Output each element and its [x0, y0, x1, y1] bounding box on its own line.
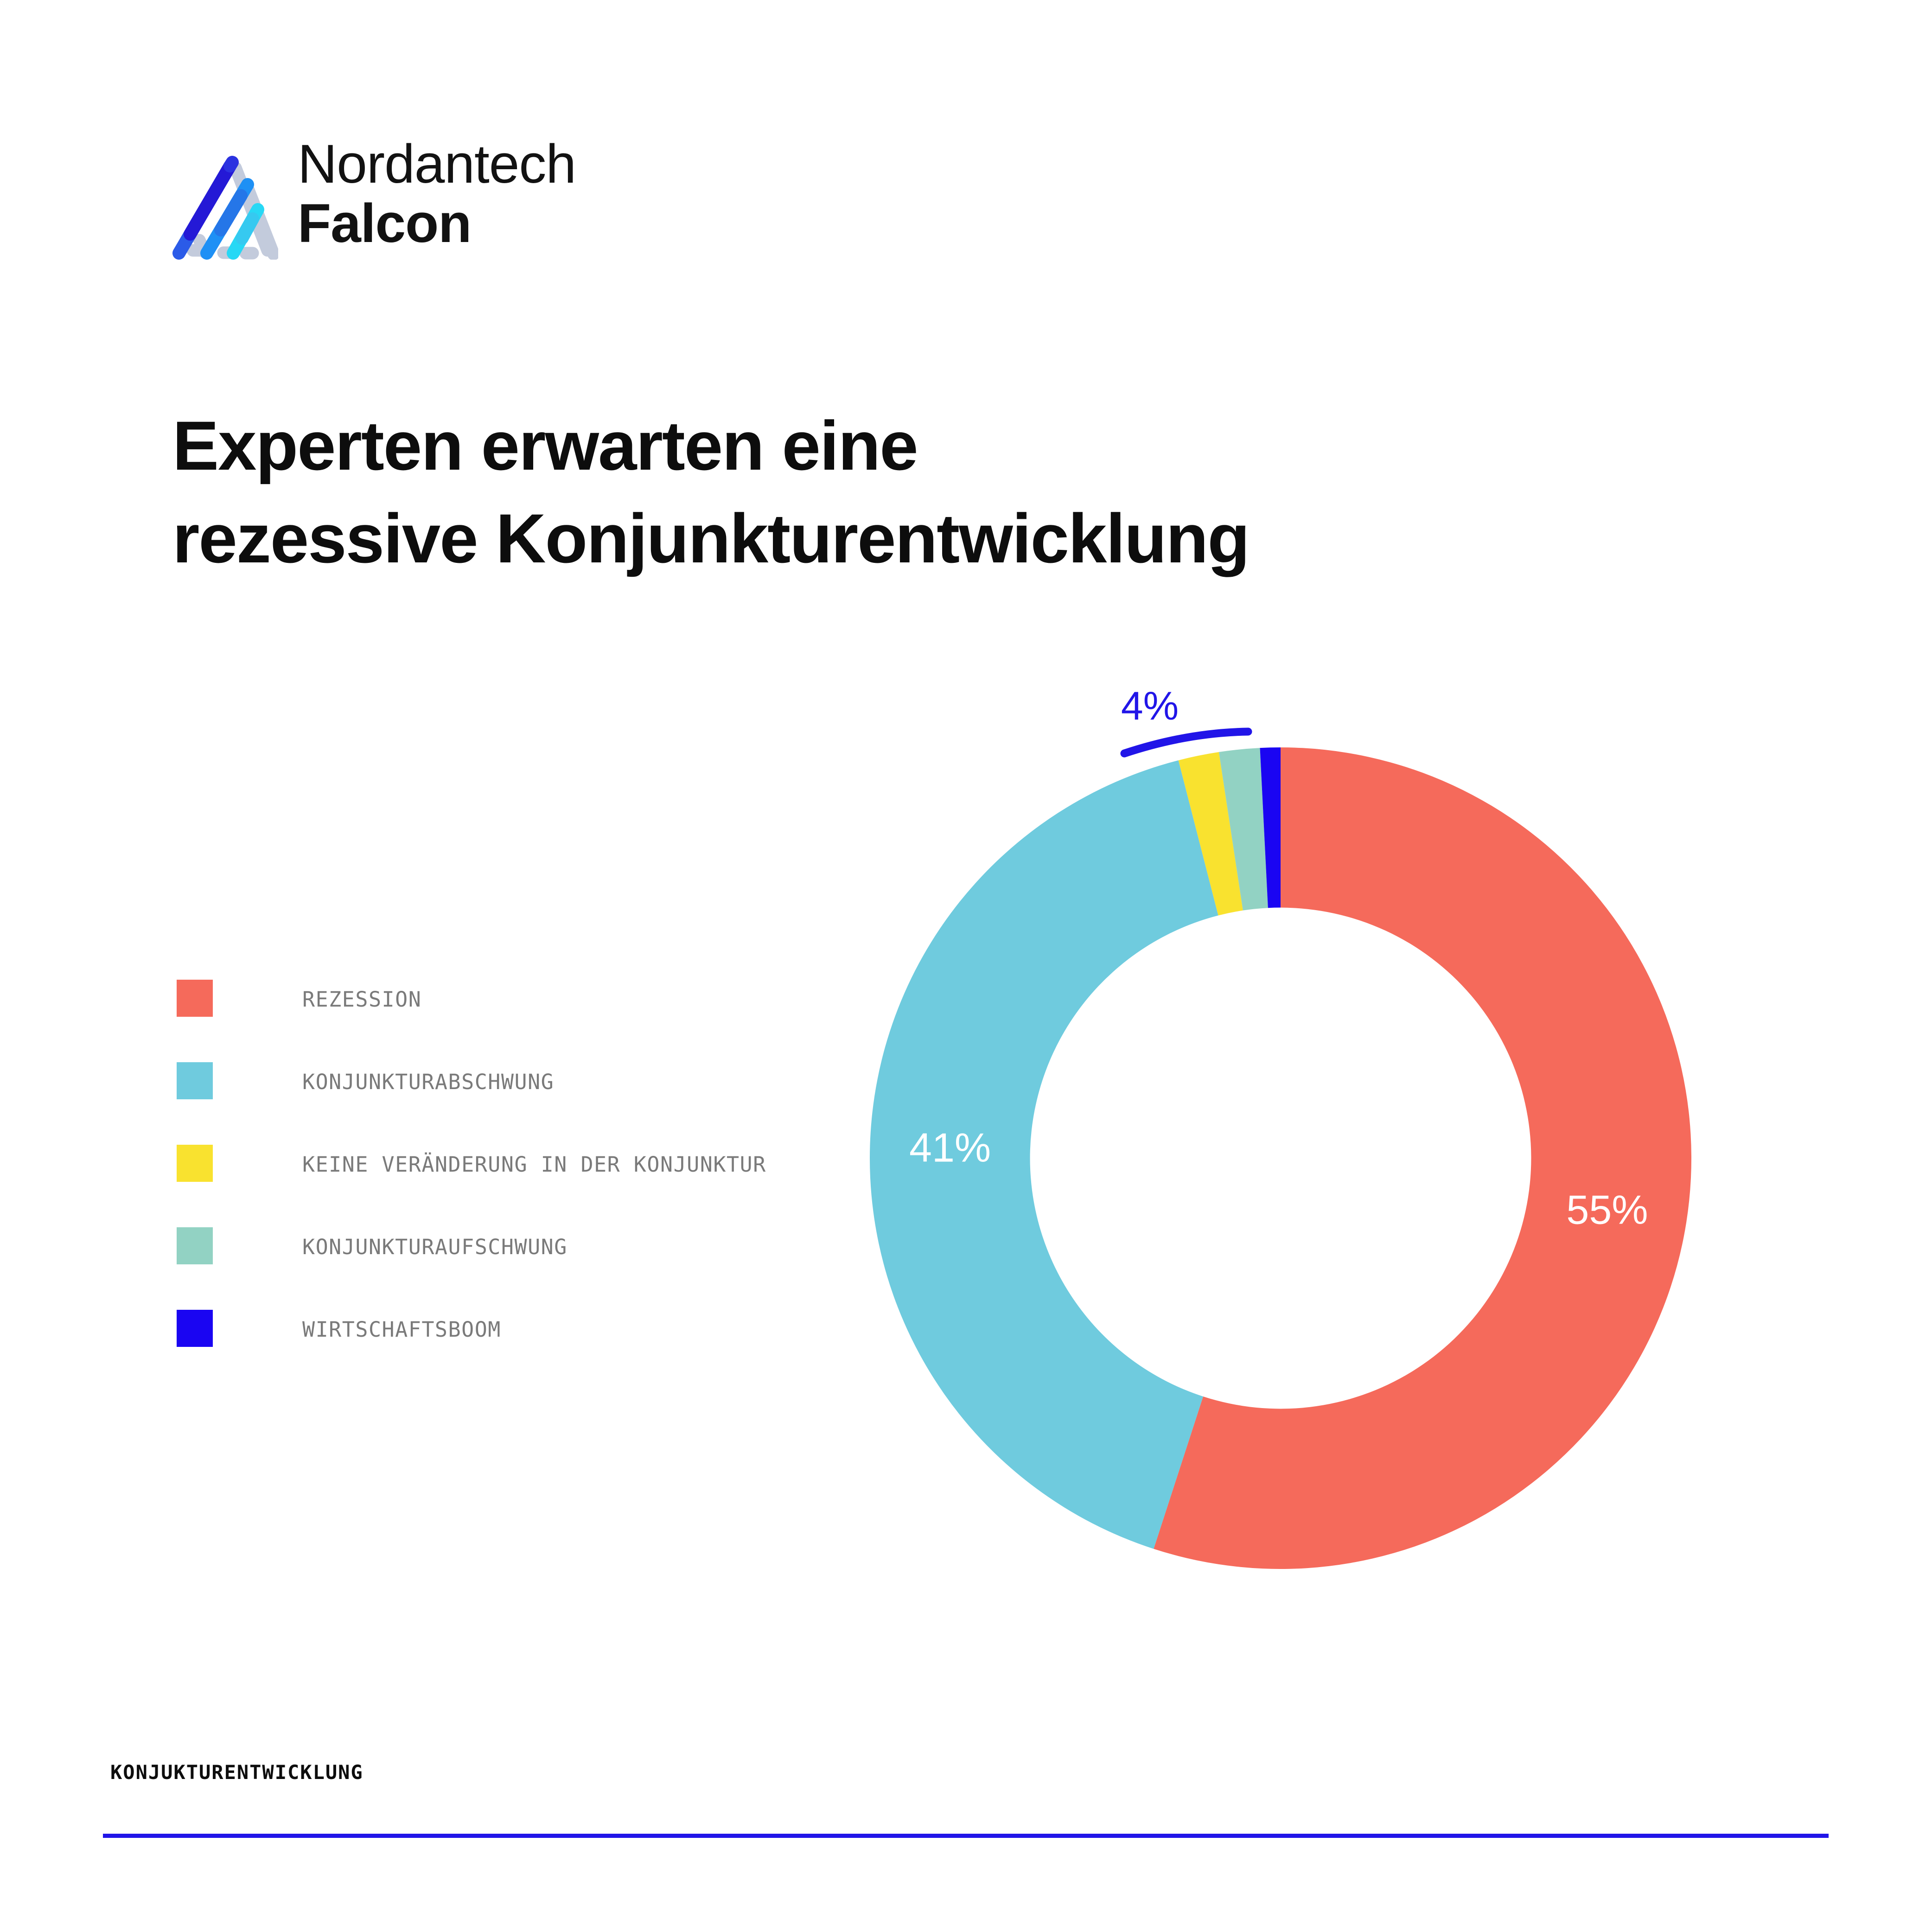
legend-item-konjunkturaufschwung[interactable]: KONJUNKTURAUFSCHWUNG [177, 1227, 918, 1310]
callout-connector-line [1124, 732, 1248, 753]
legend-item-label: KONJUNKTURABSCHWUNG [302, 1070, 554, 1094]
legend-item-rezession[interactable]: REZESSION [177, 980, 918, 1062]
page-title: Experten erwarten eine rezessive Konjunk… [172, 399, 1471, 585]
chart-legend: REZESSION KONJUNKTURABSCHWUNG KEINE VERÄ… [177, 980, 918, 1392]
brand-logo: Nordantech Falcon [172, 134, 658, 264]
nordantech-chevron-logo-icon [172, 139, 278, 260]
brand-wordmark: Nordantech Falcon [298, 134, 650, 264]
slice-value-konjunkturabschwung: 41% [909, 1125, 991, 1171]
legend-swatch-icon [177, 1310, 213, 1347]
legend-swatch-icon [177, 980, 213, 1017]
donut-chart-svg: 55% 41% [844, 593, 1771, 1474]
legend-item-label: REZESSION [302, 987, 421, 1012]
legend-item-keine-veraenderung[interactable]: KEINE VERÄNDERUNG IN DER KONJUNKTUR [177, 1145, 918, 1227]
legend-item-konjunkturabschwung[interactable]: KONJUNKTURABSCHWUNG [177, 1062, 918, 1145]
legend-item-label: WIRTSCHAFTSBOOM [302, 1317, 501, 1342]
infographic-page: Nordantech Falcon Experten erwarten eine… [0, 0, 1932, 1932]
donut-chart: 4% 55% 41% [844, 593, 1771, 1474]
legend-swatch-icon [177, 1062, 213, 1099]
brand-name-line1: Nordantech [298, 134, 650, 194]
page-title-line1: Experten erwarten eine [172, 399, 1471, 492]
donut-slices [870, 747, 1691, 1569]
footer-caption: KONJUKTURENTWICKLUNG [110, 1761, 363, 1784]
legend-item-label: KONJUNKTURAUFSCHWUNG [302, 1235, 567, 1259]
legend-swatch-icon [177, 1145, 213, 1182]
footer-divider [103, 1834, 1829, 1838]
legend-item-wirtschaftsboom[interactable]: WIRTSCHAFTSBOOM [177, 1310, 918, 1392]
slice-value-rezession: 55% [1566, 1187, 1648, 1233]
legend-swatch-icon [177, 1227, 213, 1264]
legend-item-label: KEINE VERÄNDERUNG IN DER KONJUNKTUR [302, 1152, 766, 1177]
brand-name-line2: Falcon [298, 194, 650, 253]
page-title-line2: rezessive Konjunkturentwicklung [172, 492, 1471, 585]
